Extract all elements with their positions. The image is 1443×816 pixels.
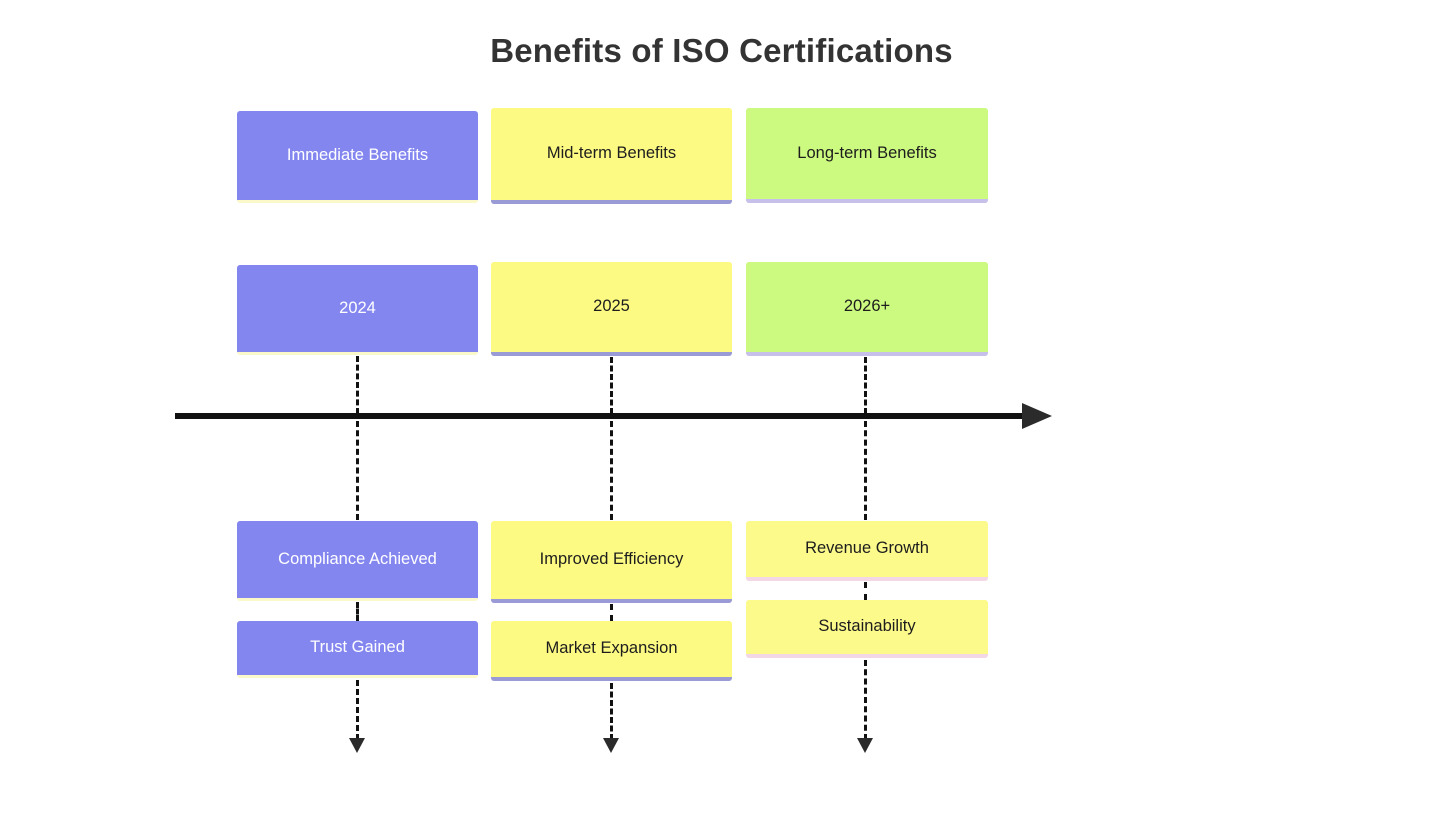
phase-year-2024[interactable]: 2024 xyxy=(237,265,478,355)
connector-2025-to-axis xyxy=(610,357,613,414)
outcome-sustainability[interactable]: Sustainability xyxy=(746,600,988,658)
phase-header-mid-term[interactable]: Mid-term Benefits xyxy=(491,108,732,204)
phase-year-2024-label: 2024 xyxy=(339,298,376,319)
phase-year-2026-plus[interactable]: 2026+ xyxy=(746,262,988,356)
timeline-axis-line xyxy=(175,413,1037,419)
connector-column-2-tail xyxy=(610,683,613,740)
phase-header-mid-term-label: Mid-term Benefits xyxy=(547,143,676,164)
outcome-revenue-growth-label: Revenue Growth xyxy=(805,538,929,559)
arrow-down-column-3-icon xyxy=(857,738,873,753)
connector-2026-to-axis xyxy=(864,357,867,414)
connector-2024-to-axis xyxy=(356,356,359,414)
phase-header-long-term-label: Long-term Benefits xyxy=(797,143,936,164)
phase-year-2025[interactable]: 2025 xyxy=(491,262,732,356)
outcome-revenue-growth[interactable]: Revenue Growth xyxy=(746,521,988,581)
outcome-sustainability-label: Sustainability xyxy=(818,616,915,637)
connector-column-3-tail xyxy=(864,660,867,740)
timeline-axis-arrow-icon xyxy=(1022,403,1052,429)
phase-year-2025-label: 2025 xyxy=(593,296,630,317)
page-title: Benefits of ISO Certifications xyxy=(0,32,1443,70)
connector-axis-to-outcome-1a xyxy=(356,421,359,520)
outcome-trust-gained[interactable]: Trust Gained xyxy=(237,621,478,678)
outcome-market-expansion-label: Market Expansion xyxy=(545,638,677,659)
outcome-compliance-achieved-label: Compliance Achieved xyxy=(278,549,437,570)
connector-outcome-3a-to-3b xyxy=(864,582,867,600)
phase-header-immediate-label: Immediate Benefits xyxy=(287,145,428,166)
connector-outcome-1a-to-1b xyxy=(356,602,359,621)
connector-outcome-2a-to-2b xyxy=(610,604,613,621)
outcome-trust-gained-label: Trust Gained xyxy=(310,637,405,658)
connector-axis-to-outcome-3a xyxy=(864,421,867,520)
outcome-improved-efficiency[interactable]: Improved Efficiency xyxy=(491,521,732,603)
phase-header-long-term[interactable]: Long-term Benefits xyxy=(746,108,988,203)
phase-header-immediate[interactable]: Immediate Benefits xyxy=(237,111,478,203)
connector-axis-to-outcome-2a xyxy=(610,421,613,520)
outcome-market-expansion[interactable]: Market Expansion xyxy=(491,621,732,681)
outcome-compliance-achieved[interactable]: Compliance Achieved xyxy=(237,521,478,601)
arrow-down-column-2-icon xyxy=(603,738,619,753)
outcome-improved-efficiency-label: Improved Efficiency xyxy=(540,549,684,570)
phase-year-2026-plus-label: 2026+ xyxy=(844,296,890,317)
connector-column-1-tail xyxy=(356,680,359,740)
timeline-diagram: Benefits of ISO Certifications Immediate… xyxy=(0,0,1443,816)
arrow-down-column-1-icon xyxy=(349,738,365,753)
